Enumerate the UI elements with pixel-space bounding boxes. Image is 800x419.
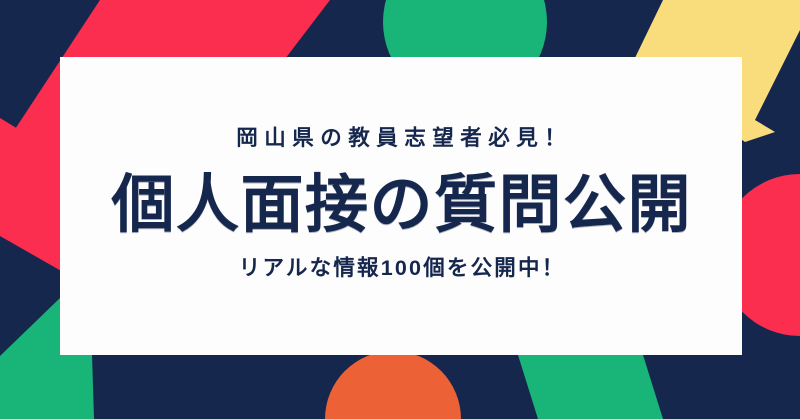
subline-text: リアルな情報100個を公開中！ xyxy=(237,258,566,280)
green-parallelogram-bottom-right xyxy=(518,355,663,419)
poster-canvas: 岡山県の教員志望者必見！ 個人面接の質問公開 リアルな情報100個を公開中！ xyxy=(0,0,800,419)
headline-text: 個人面接の質問公開 xyxy=(110,172,692,239)
kicker-text: 岡山県の教員志望者必見！ xyxy=(230,128,573,150)
content-card: 岡山県の教員志望者必見！ 個人面接の質問公開 リアルな情報100個を公開中！ xyxy=(60,57,742,355)
